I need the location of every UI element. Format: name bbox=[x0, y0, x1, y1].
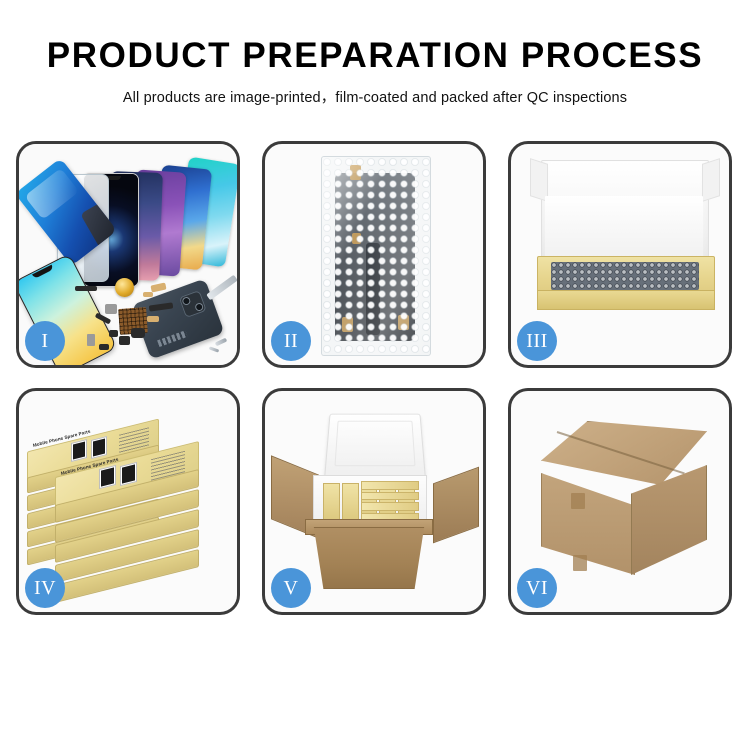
carton-front bbox=[309, 527, 429, 589]
panel-bubble-wrapped[interactable]: II bbox=[262, 141, 486, 368]
step-badge-1: I bbox=[25, 321, 65, 361]
spare-part-connector bbox=[143, 292, 153, 297]
box-print-screen bbox=[71, 439, 87, 462]
packed-box bbox=[361, 502, 419, 511]
spare-part-button bbox=[109, 330, 118, 337]
panel-carton-with-foam[interactable]: V bbox=[262, 388, 486, 615]
spare-part-sim-tray bbox=[87, 334, 95, 346]
panel-stacked-boxes[interactable]: Mobile Phone Spare Parts Mobile Phone Sp… bbox=[16, 388, 240, 615]
step-badge-6: VI bbox=[517, 568, 557, 608]
carton-right-face bbox=[631, 465, 707, 575]
bubble-wrap-bag bbox=[321, 156, 431, 356]
page-header: PRODUCT PREPARATION PROCESS All products… bbox=[0, 0, 750, 107]
carton-flap-right bbox=[433, 467, 479, 544]
step-badge-5: V bbox=[271, 568, 311, 608]
page-title: PRODUCT PREPARATION PROCESS bbox=[0, 38, 750, 75]
spare-part-strip bbox=[75, 286, 97, 291]
box-print-screen bbox=[99, 465, 116, 489]
spare-part-chip bbox=[99, 344, 109, 350]
packed-box bbox=[361, 492, 419, 501]
spare-part-connector bbox=[147, 316, 159, 322]
panel-product-parts[interactable]: I bbox=[16, 141, 240, 368]
carton-left-face bbox=[541, 473, 635, 575]
bubble-wrapped-contents bbox=[551, 262, 699, 290]
carton-tape-patch bbox=[573, 555, 587, 571]
foam-lid bbox=[324, 414, 426, 478]
box-print-screen bbox=[120, 462, 137, 486]
spare-part-bracket bbox=[105, 304, 117, 314]
page-subtitle: All products are image-printed，film-coat… bbox=[0, 86, 750, 107]
step-badge-3: III bbox=[517, 321, 557, 361]
spare-part-module bbox=[131, 328, 145, 338]
carton-tape-patch bbox=[571, 493, 585, 509]
plastic-sheen bbox=[322, 157, 430, 355]
packed-box bbox=[361, 481, 419, 490]
camera-module-icon bbox=[179, 290, 207, 318]
housing-label bbox=[157, 330, 188, 347]
footer-whitespace bbox=[0, 680, 750, 750]
yellow-box-front-panel bbox=[537, 290, 715, 310]
process-step-grid: I II III bbox=[16, 141, 734, 615]
step-badge-4: IV bbox=[25, 568, 65, 608]
packed-box bbox=[323, 483, 340, 521]
step-badge-2: II bbox=[271, 321, 311, 361]
box-print-screen bbox=[91, 436, 107, 459]
panel-open-inner-box[interactable]: III bbox=[508, 141, 732, 368]
speaker-coil-icon bbox=[115, 278, 134, 297]
packed-boxes-stack bbox=[361, 481, 419, 521]
white-foam-sheet bbox=[545, 196, 703, 262]
packed-box bbox=[342, 483, 359, 521]
spare-part-button bbox=[119, 336, 130, 345]
panel-sealed-carton[interactable]: VI bbox=[508, 388, 732, 615]
